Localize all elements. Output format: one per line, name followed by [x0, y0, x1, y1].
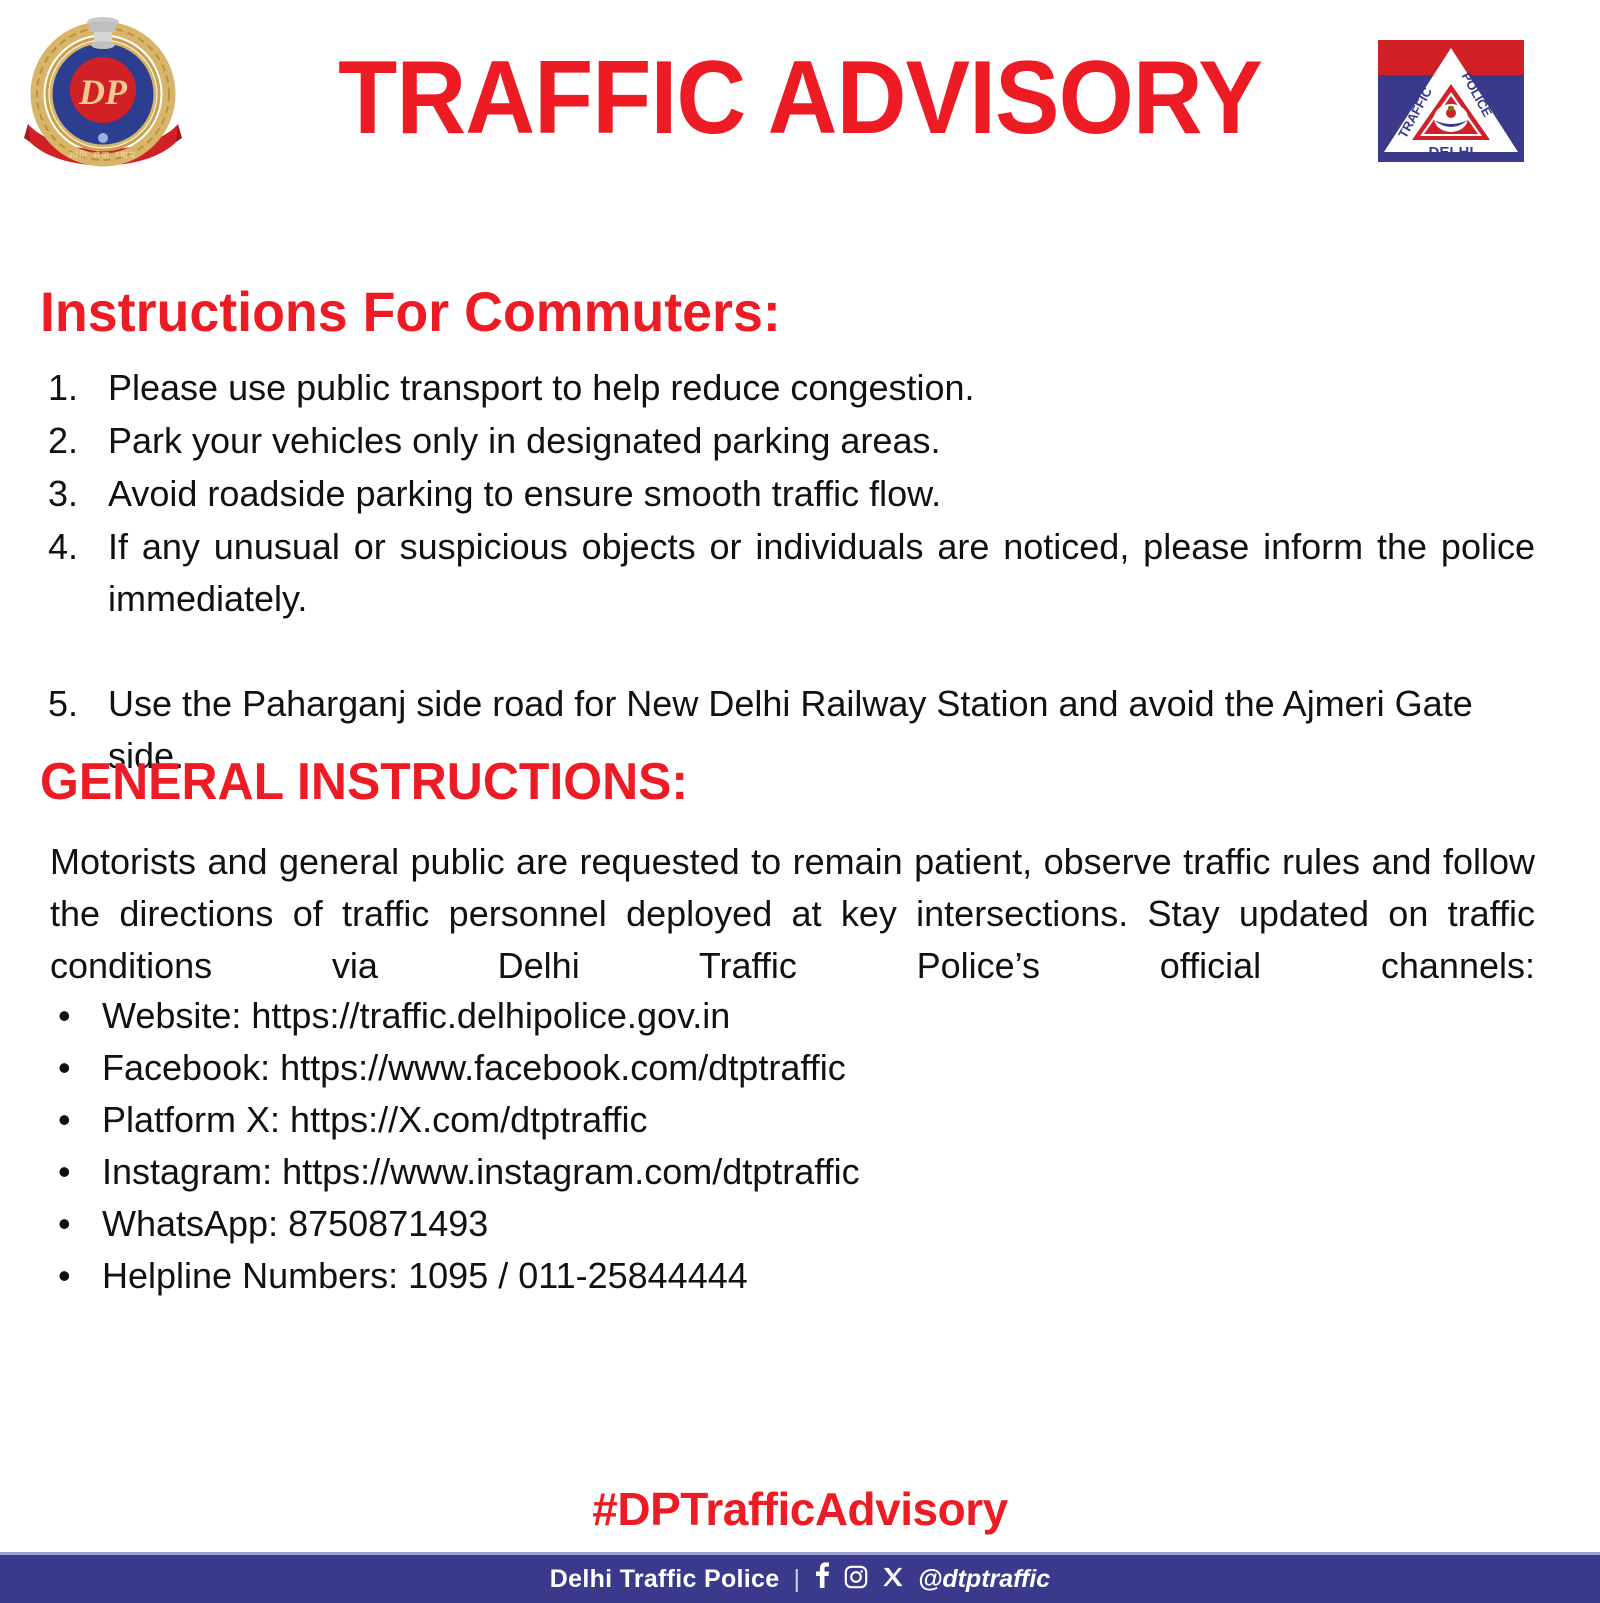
list-item: 4. If any unusual or suspicious objects … — [40, 521, 1535, 677]
list-item-number: 5. — [48, 678, 78, 730]
svg-text:शांति सेवा न्याय: शांति सेवा न्याय — [69, 149, 137, 160]
channel-whatsapp: WhatsApp: 8750871493 — [102, 1203, 488, 1244]
channel-instagram: Instagram: https://www.instagram.com/dtp… — [102, 1151, 860, 1192]
list-item-text: Avoid roadside parking to ensure smooth … — [108, 473, 941, 514]
list-item-number: 3. — [48, 468, 78, 520]
facebook-icon[interactable] — [814, 1562, 830, 1596]
footer-handle[interactable]: @dtptraffic — [918, 1565, 1050, 1594]
channel-helpline: Helpline Numbers: 1095 / 011-25844444 — [102, 1255, 748, 1296]
list-item-text: If any unusual or suspicious objects or … — [108, 521, 1535, 677]
list-item-text: Please use public transport to help redu… — [108, 367, 975, 408]
list-item-text: Park your vehicles only in designated pa… — [108, 420, 940, 461]
footer-org-name: Delhi Traffic Police — [550, 1565, 780, 1594]
page-header: DP शांति सेवा न्याय TRAFFIC ADVISORY — [0, 0, 1600, 200]
bullet-icon: • — [58, 1042, 71, 1094]
official-channels-list: • Website: https://traffic.delhipolice.g… — [40, 990, 1240, 1302]
page-title: TRAFFIC ADVISORY — [56, 46, 1544, 150]
commuters-heading: Instructions For Commuters: — [40, 284, 781, 340]
channel-facebook: Facebook: https://www.facebook.com/dtptr… — [102, 1047, 846, 1088]
list-item-number: 2. — [48, 415, 78, 467]
list-item-number: 1. — [48, 362, 78, 414]
svg-text:DELHI: DELHI — [1429, 144, 1474, 161]
general-instructions-heading: GENERAL INSTRUCTIONS: — [40, 756, 688, 808]
footer-separator: | — [793, 1565, 800, 1594]
bullet-icon: • — [58, 1094, 71, 1146]
commuters-instruction-list: 1. Please use public transport to help r… — [40, 362, 1535, 783]
bullet-icon: • — [58, 1250, 71, 1302]
list-item: • Platform X: https://X.com/dtptraffic — [40, 1094, 1240, 1146]
traffic-police-delhi-logo: TRAFFIC POLICE DELHI — [1378, 40, 1524, 162]
list-item-number: 4. — [48, 521, 78, 573]
list-item: 3. Avoid roadside parking to ensure smoo… — [40, 468, 1535, 520]
list-item: • Helpline Numbers: 1095 / 011-25844444 — [40, 1250, 1240, 1302]
list-item: • WhatsApp: 8750871493 — [40, 1198, 1240, 1250]
list-item: 2. Park your vehicles only in designated… — [40, 415, 1535, 467]
bullet-icon: • — [58, 990, 71, 1042]
list-item: • Instagram: https://www.instagram.com/d… — [40, 1146, 1240, 1198]
list-item: • Facebook: https://www.facebook.com/dtp… — [40, 1042, 1240, 1094]
list-item: • Website: https://traffic.delhipolice.g… — [40, 990, 1240, 1042]
footer-bar: Delhi Traffic Police | @dtptraffic — [0, 1552, 1600, 1603]
bullet-icon: • — [58, 1146, 71, 1198]
instagram-icon[interactable] — [844, 1565, 868, 1594]
x-icon[interactable] — [882, 1566, 904, 1593]
hashtag: #DPTrafficAdvisory — [0, 1482, 1600, 1536]
channel-platform-x: Platform X: https://X.com/dtptraffic — [102, 1099, 648, 1140]
bullet-icon: • — [58, 1198, 71, 1250]
channel-website: Website: https://traffic.delhipolice.gov… — [102, 995, 730, 1036]
list-item: 1. Please use public transport to help r… — [40, 362, 1535, 414]
